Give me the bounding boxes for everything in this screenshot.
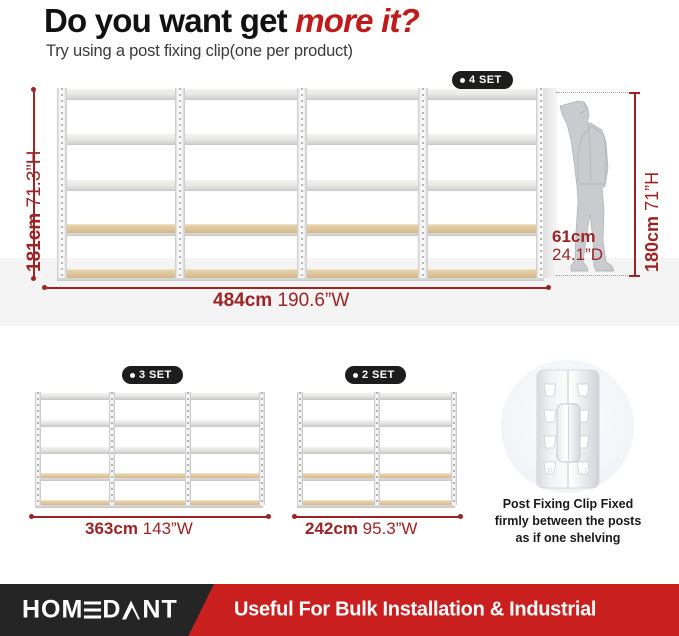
brand-logo-part1: HOM <box>22 596 83 625</box>
post-perforation-strip <box>422 88 424 278</box>
person-height-cm: 180cm <box>642 216 662 272</box>
page-title: Do you want get more it? <box>44 2 419 40</box>
hero-height-inch: 71.3”H <box>24 151 45 208</box>
hero-width-dim-dot-right <box>546 285 551 290</box>
set3-width-inch: 143”W <box>143 519 193 538</box>
post-fixing-clip-photo <box>529 366 607 497</box>
set3-width-dim-dot-right <box>266 514 271 519</box>
brand-logo-e-glyph-icon <box>84 601 101 620</box>
shelving-rack-3-set <box>35 392 263 505</box>
hero-height-cm: 181cm <box>24 213 45 272</box>
badge-4-set-label: 4 SET <box>469 74 502 86</box>
set2-width-dim-dot-left <box>292 514 297 519</box>
set2-width-inch: 95.3”W <box>363 519 418 538</box>
set2-width-dim-line <box>294 516 461 518</box>
hero-height-dim-label: 181cm 71.3”H <box>24 151 46 272</box>
shelf-lip <box>57 278 544 281</box>
clip-caption-line2: firmly between the posts <box>466 513 670 530</box>
hero-width-cm: 484cm <box>213 290 272 311</box>
hero-width-dim-line <box>44 287 549 289</box>
shelving-rack-4-set <box>57 88 544 278</box>
post-perforation-strip <box>261 392 263 505</box>
set3-width-dim-label: 363cm 143”W <box>85 519 193 539</box>
shelf-plank <box>35 392 263 397</box>
person-height-guide-top <box>556 92 634 93</box>
badge-3-set-label: 3 SET <box>139 369 172 381</box>
shelf-upright-post <box>57 88 67 278</box>
person-height-dim-cap-top <box>629 92 640 94</box>
brand-logo: HOM D NT <box>22 596 178 625</box>
shelf-lip <box>35 424 263 427</box>
shelf-upright-post <box>374 392 380 505</box>
person-height-dim-line <box>634 92 636 276</box>
hero-depth-inch: 24.1”D <box>552 246 603 264</box>
person-height-dim-cap-bottom <box>629 275 640 277</box>
person-height-inch: 71”H <box>642 172 662 211</box>
badge-2-set-label: 2 SET <box>362 369 395 381</box>
post-perforation-strip <box>111 392 113 505</box>
set3-width-dim-dot-left <box>29 514 34 519</box>
hero-height-dim-dot-bottom <box>31 276 36 281</box>
shelf-upright-post <box>185 392 191 505</box>
set3-width-dim-line <box>31 516 269 518</box>
clip-caption-line1: Post Fixing Clip Fixed <box>466 496 670 513</box>
shelf-plank <box>35 500 263 505</box>
banner-tagline: Useful For Bulk Installation & Industria… <box>234 599 596 622</box>
post-perforation-strip <box>301 88 303 278</box>
set2-width-dim-label: 242cm 95.3”W <box>305 519 417 539</box>
shelf-plank <box>35 419 263 424</box>
shelf-upright-post <box>259 392 265 505</box>
hero-depth-cm: 61cm <box>552 228 603 246</box>
set2-width-dim-dot-right <box>458 514 463 519</box>
person-height-dim-label: 180cm 71”H <box>642 172 663 272</box>
shelf-lip <box>35 397 263 400</box>
shelf-upright-post <box>418 88 428 278</box>
brand-logo-part3: NT <box>142 596 177 625</box>
shelf-lip <box>35 451 263 454</box>
brand-logo-a-glyph-icon <box>122 601 141 620</box>
post-perforation-strip <box>179 88 181 278</box>
post-perforation-strip <box>376 392 378 505</box>
hero-width-dim-dot-left <box>42 285 47 290</box>
bullet-dot-icon <box>353 373 358 378</box>
shelf-upright-post <box>297 392 303 505</box>
clip-caption-line3: as if one shelving <box>466 530 670 547</box>
post-perforation-strip <box>540 88 542 278</box>
hero-height-dim-dot-top <box>31 87 36 92</box>
bullet-dot-icon <box>130 373 135 378</box>
clip-caption: Post Fixing Clip Fixed firmly between th… <box>466 496 670 547</box>
page-title-accent: more it? <box>295 2 419 39</box>
post-perforation-strip <box>453 392 455 505</box>
shelf-plank <box>35 473 263 478</box>
hero-depth-dim-label: 61cm 24.1”D <box>552 228 603 264</box>
post-perforation-strip <box>187 392 189 505</box>
shelf-upright-post <box>109 392 115 505</box>
badge-2-set: 2 SET <box>345 366 406 384</box>
bottom-banner: HOM D NT Useful For Bulk Installation & … <box>0 584 679 636</box>
shelf-lip <box>297 505 455 508</box>
infographic-page: Do you want get more it? Try using a pos… <box>0 0 679 636</box>
shelf-upright-post <box>451 392 457 505</box>
shelf-plank <box>35 446 263 451</box>
shelf-upright-post <box>175 88 185 278</box>
badge-4-set: 4 SET <box>452 71 513 89</box>
shelf-lip <box>35 505 263 508</box>
page-subtitle: Try using a post fixing clip(one per pro… <box>46 42 353 61</box>
page-title-plain: Do you want get <box>44 2 295 39</box>
badge-3-set: 3 SET <box>122 366 183 384</box>
shelf-upright-post <box>35 392 41 505</box>
hero-width-dim-label: 484cm 190.6”W <box>213 290 349 312</box>
bullet-dot-icon <box>460 78 465 83</box>
post-perforation-strip <box>61 88 63 278</box>
hero-width-inch: 190.6”W <box>277 290 349 311</box>
post-perforation-strip <box>37 392 39 505</box>
post-perforation-strip <box>299 392 301 505</box>
person-height-guide-bottom <box>556 275 634 276</box>
shelving-rack-2-set <box>297 392 455 505</box>
shelf-upright-post <box>297 88 307 278</box>
brand-logo-part2: D <box>102 596 121 625</box>
set3-width-cm: 363cm <box>85 519 138 538</box>
set2-width-cm: 242cm <box>305 519 358 538</box>
shelf-lip <box>35 478 263 481</box>
